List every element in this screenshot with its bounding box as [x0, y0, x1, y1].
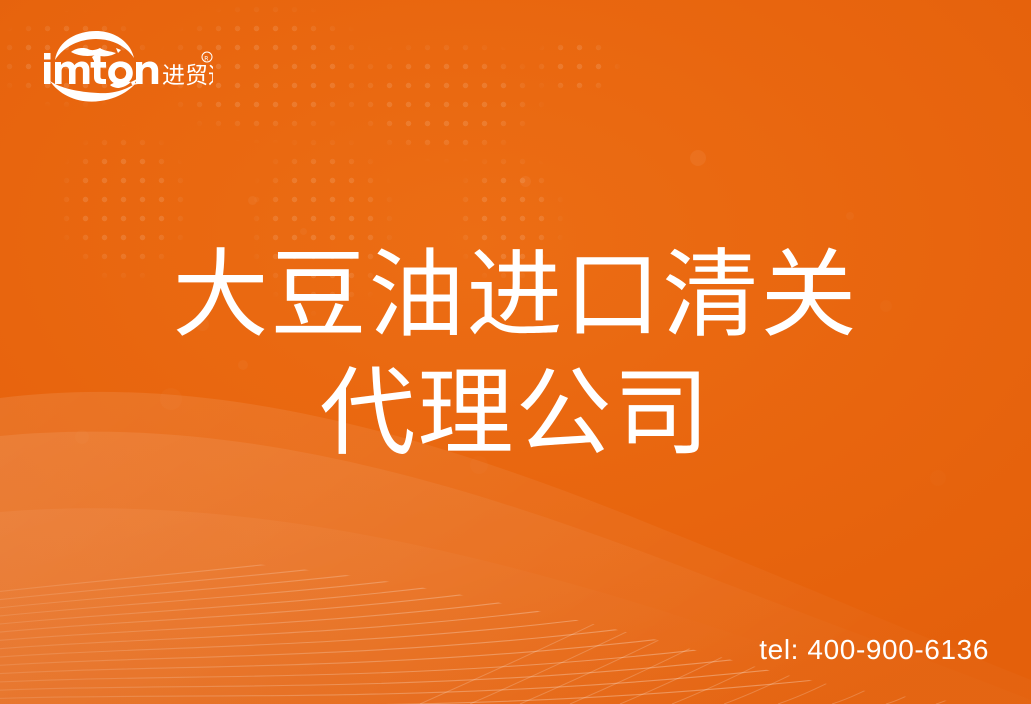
- brand-logo[interactable]: 进贸通 R: [38, 26, 213, 106]
- svg-text:R: R: [204, 55, 208, 62]
- promo-banner: 进贸通 R 大豆油进口清关 代理公司 tel: 400-900-6136: [0, 0, 1031, 704]
- svg-text:进贸通: 进贸通: [162, 63, 213, 89]
- headline-line-1: 大豆油进口清关: [0, 236, 1031, 354]
- page-title: 大豆油进口清关 代理公司: [0, 236, 1031, 472]
- globe-swoosh-logo: 进贸通 R: [38, 26, 213, 106]
- headline-line-2: 代理公司: [0, 354, 1031, 472]
- contact-phone[interactable]: tel: 400-900-6136: [759, 634, 989, 666]
